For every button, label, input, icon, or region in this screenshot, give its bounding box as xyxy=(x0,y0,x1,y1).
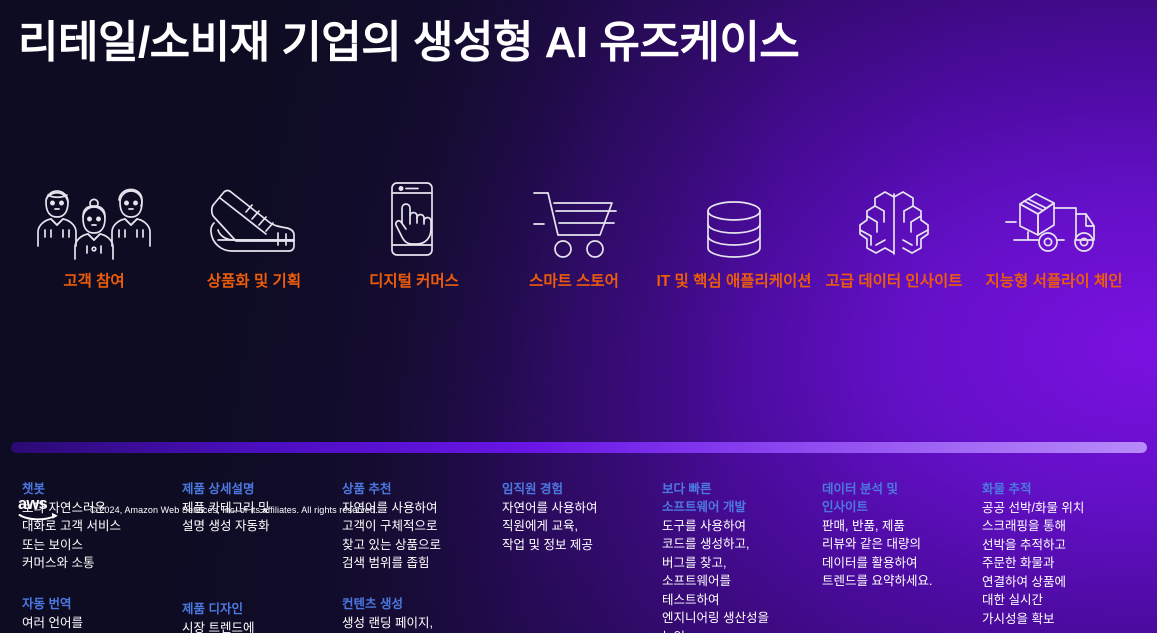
usecase-body: 생성 랜딩 페이지, 블로그, 소셜 미디어 게시물을 위한 SEO 최적화 문… xyxy=(342,614,498,633)
usecase-title: 컨텐츠 생성 xyxy=(342,595,498,613)
category-label: 상품화 및 기획 xyxy=(207,272,301,293)
category-intelligent-supply-chain: 지능형 서플라이 체인 xyxy=(974,168,1134,293)
usecase-title: 자동 번역 xyxy=(22,595,178,613)
slide-canvas: 리테일/소비재 기업의 생성형 AI 유즈케이스 xyxy=(0,0,1157,633)
category-label: IT 및 핵심 애플리케이션 xyxy=(656,272,811,293)
category-label: 지능형 서플라이 체인 xyxy=(986,272,1123,293)
usecase-body: 시장 트렌드에 기반한 제품 아이디어 생성 xyxy=(182,619,338,633)
aws-logo: aws xyxy=(18,494,66,524)
copyright-text: © 2024, Amazon Web Services, Inc. or its… xyxy=(90,505,378,515)
usecase-body: 도구를 사용하여 코드를 생성하고, 버그를 찾고, 소프트웨어를 테스트하여 … xyxy=(662,517,818,633)
brain-icon xyxy=(857,168,931,260)
category-label: 고객 참여 xyxy=(63,272,124,293)
database-icon xyxy=(703,168,765,260)
svg-text:aws: aws xyxy=(18,495,48,513)
category-label: 디지털 커머스 xyxy=(369,272,459,293)
shopping-cart-icon xyxy=(532,168,616,260)
category-it-core-applications: IT 및 핵심 애플리케이션 xyxy=(654,168,814,293)
usecase-item: 자동 번역 여러 언어를 사용하여 더 많은 잠재 고객에게 도달하기 위한 문… xyxy=(22,595,178,633)
shoe-icon xyxy=(206,168,302,260)
mobile-tap-icon xyxy=(374,168,454,260)
category-smart-store: 스마트 스토어 xyxy=(494,168,654,293)
usecase-item: 제품 디자인 시장 트렌드에 기반한 제품 아이디어 생성 xyxy=(182,600,338,633)
page-title: 리테일/소비재 기업의 생성형 AI 유즈케이스 xyxy=(18,6,1157,70)
category-customer-engagement: 고객 참여 xyxy=(14,168,174,293)
category-merchandising-planning: 상품화 및 기획 xyxy=(174,168,334,293)
category-label: 고급 데이터 인사이트 xyxy=(826,272,963,293)
section-divider-bar xyxy=(11,442,1147,453)
category-advanced-data-insights: 고급 데이터 인사이트 xyxy=(814,168,974,293)
category-digital-commerce: 디지털 커머스 xyxy=(334,168,494,293)
people-group-icon xyxy=(36,168,152,260)
usecase-title: 제품 디자인 xyxy=(182,600,338,618)
category-label: 스마트 스토어 xyxy=(529,272,619,293)
usecase-body: 여러 언어를 사용하여 더 많은 잠재 고객에게 도달하기 위한 문구 번역 xyxy=(22,614,178,633)
category-row: 고객 참여 상품화 및 기획 xyxy=(0,168,1157,293)
usecase-item: 컨텐츠 생성 생성 랜딩 페이지, 블로그, 소셜 미디어 게시물을 위한 SE… xyxy=(342,595,498,633)
footer: aws © 2024, Amazon Web Services, Inc. or… xyxy=(0,485,1157,533)
delivery-truck-icon xyxy=(1002,168,1106,260)
